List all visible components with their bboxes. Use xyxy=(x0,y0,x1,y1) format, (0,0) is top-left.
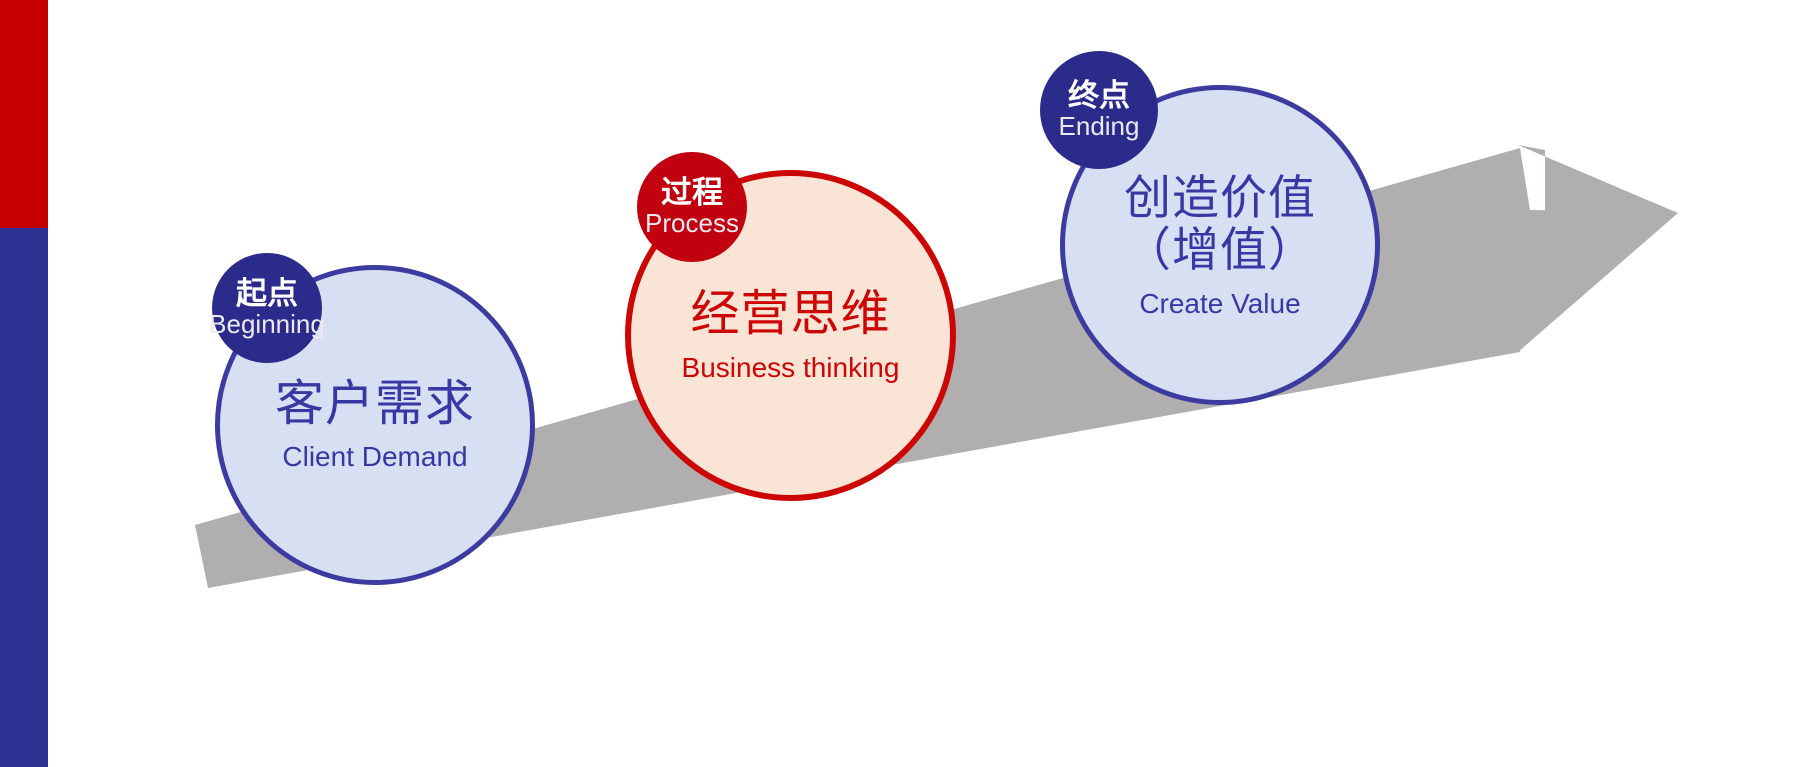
node-client-demand-title-en: Client Demand xyxy=(282,442,467,471)
node-create-value-title-cn-line2: （增值） xyxy=(1124,224,1316,277)
badge-process[interactable]: 过程 Process xyxy=(637,152,747,262)
node-create-value-title-cn-line1: 创造价值 xyxy=(1124,172,1316,225)
slide-canvas: 客户需求 Client Demand 起点 Beginning 经营思维 Bus… xyxy=(0,0,1800,767)
badge-process-label-cn: 过程 xyxy=(661,177,723,209)
badge-ending[interactable]: 终点 Ending xyxy=(1040,51,1158,169)
badge-beginning-label-en: Beginning xyxy=(209,311,325,338)
badge-ending-label-en: Ending xyxy=(1059,113,1140,140)
node-client-demand-title-cn: 客户需求 xyxy=(275,379,475,430)
badge-process-label-en: Process xyxy=(645,210,739,237)
badge-beginning-label-cn: 起点 xyxy=(236,278,298,310)
node-create-value-title-en: Create Value xyxy=(1139,289,1300,318)
badge-beginning[interactable]: 起点 Beginning xyxy=(212,253,322,363)
node-business-thinking-title-cn: 经营思维 xyxy=(690,289,890,340)
badge-ending-label-cn: 终点 xyxy=(1068,80,1130,112)
node-business-thinking-title-en: Business thinking xyxy=(682,353,900,382)
